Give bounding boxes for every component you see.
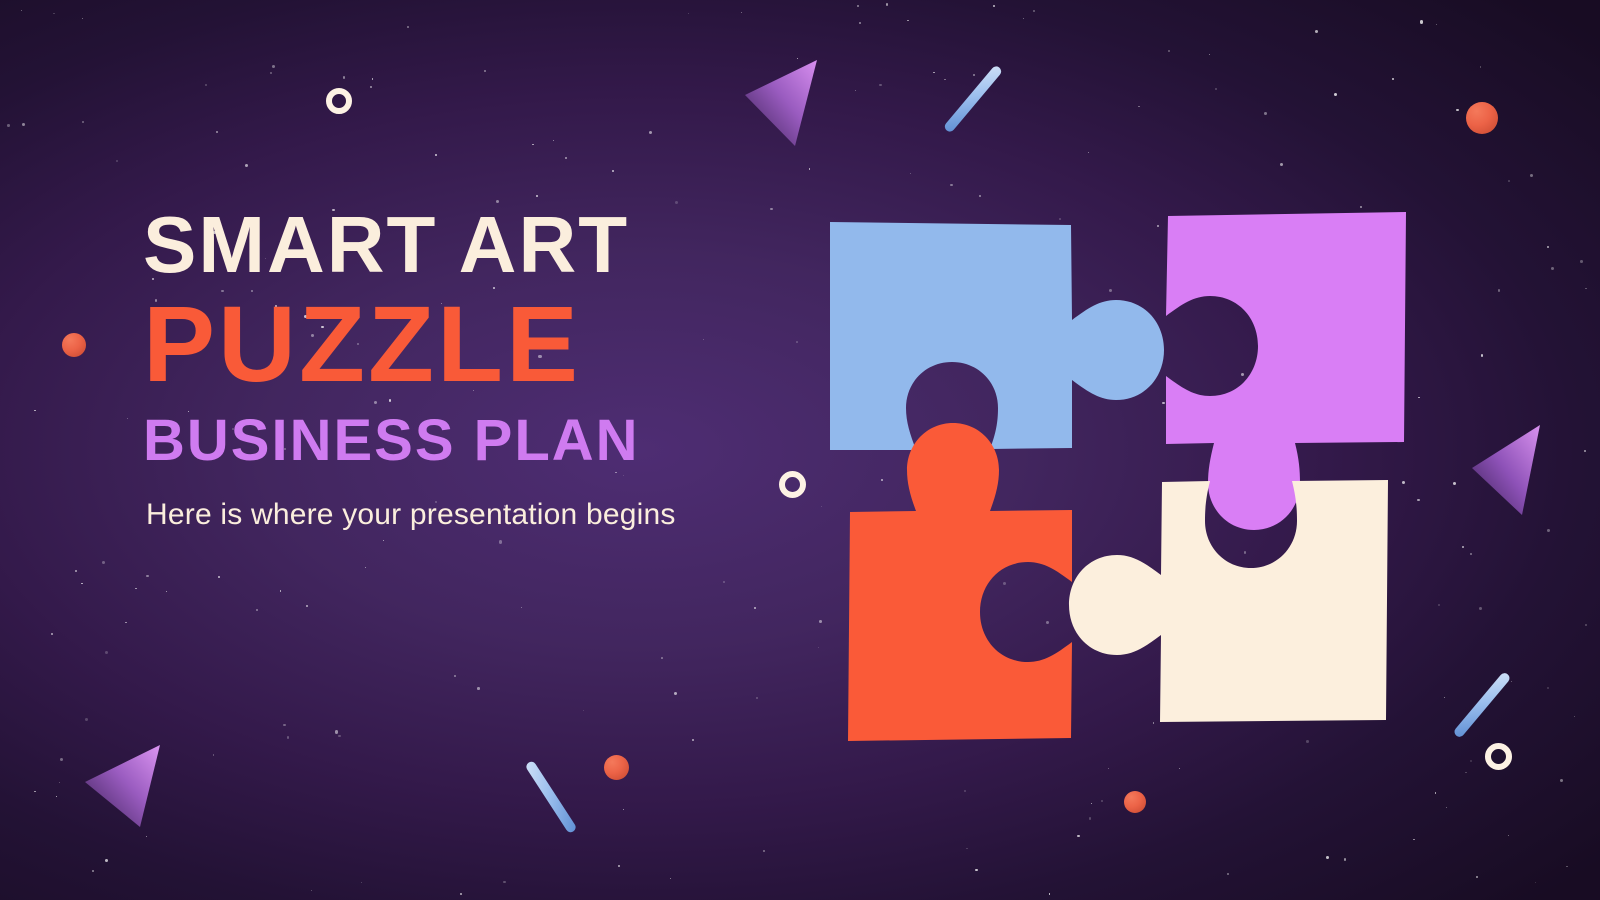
- star-icon: [272, 65, 275, 68]
- star-icon: [1574, 716, 1575, 717]
- star-icon: [1089, 817, 1091, 819]
- star-icon: [311, 890, 312, 891]
- star-icon: [287, 736, 289, 738]
- star-icon: [1280, 163, 1283, 166]
- star-icon: [82, 121, 84, 123]
- star-icon: [338, 735, 340, 737]
- star-icon: [565, 157, 568, 160]
- triangle-top-center-icon: [745, 58, 855, 148]
- star-icon: [886, 3, 889, 6]
- star-icon: [1138, 106, 1140, 108]
- presentation-slide: SMART ART PUZZLE BUSINESS PLAN Here is w…: [0, 0, 1600, 900]
- star-icon: [365, 567, 366, 568]
- star-icon: [1470, 553, 1472, 555]
- star-icon: [146, 836, 147, 837]
- star-icon: [910, 173, 911, 174]
- star-icon: [146, 575, 149, 578]
- star-icon: [105, 651, 108, 654]
- star-icon: [661, 657, 663, 659]
- star-icon: [1168, 50, 1170, 52]
- star-icon: [1530, 174, 1533, 177]
- star-icon: [1481, 354, 1484, 357]
- star-icon: [1344, 858, 1346, 860]
- star-icon: [674, 692, 677, 695]
- star-icon: [907, 20, 909, 22]
- star-icon: [1580, 260, 1583, 263]
- star-icon: [59, 782, 60, 783]
- star-icon: [763, 850, 765, 852]
- star-icon: [933, 72, 935, 74]
- star-icon: [370, 86, 372, 88]
- star-icon: [383, 540, 384, 541]
- star-icon: [756, 697, 758, 699]
- star-icon: [675, 201, 678, 204]
- star-icon: [521, 607, 523, 609]
- star-icon: [85, 718, 88, 721]
- star-icon: [553, 140, 554, 141]
- star-icon: [670, 878, 671, 879]
- star-icon: [503, 881, 505, 883]
- star-icon: [1508, 180, 1510, 182]
- star-icon: [7, 124, 10, 127]
- puzzle-graphic: [800, 180, 1440, 780]
- star-icon: [1392, 78, 1394, 80]
- star-icon: [499, 540, 502, 543]
- star-icon: [1453, 482, 1456, 485]
- star-icon: [1456, 109, 1459, 112]
- star-icon: [216, 131, 218, 133]
- page-title-line-1: SMART ART: [143, 206, 803, 284]
- star-icon: [692, 739, 694, 741]
- star-icon: [1508, 835, 1509, 836]
- star-icon: [56, 796, 57, 797]
- orange-puzzle-piece[interactable]: [848, 423, 1072, 741]
- star-icon: [532, 144, 534, 146]
- comet-line-bottom-center-icon: [524, 760, 577, 834]
- star-icon: [1498, 289, 1501, 292]
- star-icon: [102, 561, 105, 564]
- star-icon: [944, 79, 945, 80]
- star-icon: [1227, 873, 1229, 875]
- star-icon: [407, 26, 409, 28]
- star-icon: [1091, 803, 1092, 804]
- star-icon: [1023, 18, 1024, 19]
- star-icon: [1511, 681, 1512, 682]
- star-icon: [973, 74, 975, 76]
- star-icon: [105, 859, 108, 862]
- star-icon: [975, 869, 977, 871]
- title-block: SMART ART PUZZLE BUSINESS PLAN Here is w…: [143, 206, 803, 532]
- star-icon: [964, 790, 966, 792]
- star-icon: [283, 724, 285, 726]
- star-icon: [1033, 10, 1035, 12]
- star-icon: [51, 633, 53, 635]
- star-icon: [536, 195, 539, 198]
- star-icon: [34, 410, 36, 412]
- star-icon: [1049, 893, 1051, 895]
- star-icon: [306, 605, 308, 607]
- star-icon: [213, 754, 215, 756]
- star-icon: [1209, 54, 1210, 55]
- ring-bottom-right-icon: [1485, 743, 1512, 770]
- star-icon: [245, 164, 248, 167]
- star-icon: [1413, 839, 1415, 841]
- page-title-line-2: PUZZLE: [143, 290, 803, 398]
- star-icon: [1088, 152, 1089, 153]
- star-icon: [1444, 697, 1445, 698]
- star-icon: [92, 870, 94, 872]
- star-icon: [618, 865, 621, 868]
- star-icon: [993, 5, 995, 7]
- star-icon: [218, 576, 220, 578]
- star-icon: [435, 154, 437, 156]
- star-icon: [454, 675, 455, 676]
- star-icon: [688, 13, 689, 14]
- star-icon: [1446, 807, 1447, 808]
- star-icon: [1585, 624, 1587, 626]
- dot-bottom-center-icon: [604, 755, 629, 780]
- star-icon: [1326, 856, 1329, 859]
- star-icon: [1435, 792, 1437, 794]
- star-icon: [75, 570, 77, 572]
- star-icon: [1215, 88, 1217, 90]
- dot-top-right-icon: [1466, 102, 1498, 134]
- page-title-line-3: BUSINESS PLAN: [143, 412, 803, 470]
- star-icon: [857, 5, 859, 7]
- ring-top-left-icon: [326, 88, 352, 114]
- subtitle-text: Here is where your presentation begins: [146, 498, 803, 532]
- star-icon: [1436, 24, 1437, 25]
- star-icon: [34, 791, 35, 792]
- star-icon: [1420, 20, 1423, 23]
- star-icon: [1315, 30, 1318, 33]
- triangle-bottom-left-icon: [85, 745, 200, 835]
- star-icon: [125, 622, 127, 624]
- star-icon: [1560, 779, 1563, 782]
- star-icon: [116, 160, 118, 162]
- star-icon: [879, 84, 881, 86]
- star-icon: [1264, 112, 1267, 115]
- star-icon: [741, 12, 743, 14]
- star-icon: [280, 590, 282, 592]
- star-icon: [1077, 835, 1080, 838]
- star-icon: [649, 131, 652, 134]
- star-icon: [1547, 529, 1550, 532]
- star-icon: [1584, 450, 1586, 452]
- star-icon: [754, 607, 756, 609]
- star-icon: [966, 848, 967, 849]
- star-icon: [484, 70, 486, 72]
- comet-line-bottom-right-icon: [1452, 671, 1511, 739]
- star-icon: [81, 583, 83, 585]
- star-icon: [809, 168, 811, 170]
- star-icon: [22, 123, 25, 126]
- star-icon: [1470, 760, 1472, 762]
- star-icon: [270, 72, 272, 74]
- star-icon: [723, 581, 725, 583]
- star-icon: [1101, 800, 1103, 802]
- star-icon: [372, 78, 374, 80]
- star-icon: [1547, 246, 1549, 248]
- dot-bottom-right-icon: [1124, 791, 1146, 813]
- star-icon: [1476, 876, 1478, 878]
- star-icon: [361, 882, 363, 884]
- star-icon: [21, 10, 23, 12]
- star-icon: [82, 18, 83, 19]
- triangle-right-mid-icon: [1472, 420, 1562, 520]
- star-icon: [859, 22, 861, 24]
- star-icon: [166, 591, 167, 592]
- star-icon: [1462, 546, 1464, 548]
- star-icon: [477, 687, 480, 690]
- comet-line-top-right-icon: [943, 64, 1003, 133]
- star-icon: [1479, 607, 1482, 610]
- dot-left-upper-icon: [62, 333, 86, 357]
- star-icon: [1480, 66, 1482, 68]
- star-icon: [583, 710, 584, 711]
- star-icon: [612, 170, 614, 172]
- star-icon: [135, 588, 136, 589]
- star-icon: [256, 609, 258, 611]
- star-icon: [623, 809, 625, 811]
- star-icon: [60, 758, 63, 761]
- star-icon: [335, 730, 338, 733]
- star-icon: [1585, 288, 1586, 289]
- star-icon: [1334, 93, 1337, 96]
- star-icon: [1465, 772, 1467, 774]
- star-icon: [53, 13, 55, 15]
- star-icon: [127, 418, 128, 419]
- star-icon: [1551, 267, 1554, 270]
- star-icon: [1535, 882, 1536, 883]
- star-icon: [205, 84, 207, 86]
- star-icon: [1547, 687, 1549, 689]
- star-icon: [460, 893, 462, 895]
- star-icon: [1566, 866, 1567, 867]
- blue-puzzle-piece[interactable]: [830, 222, 1164, 450]
- star-icon: [343, 76, 346, 79]
